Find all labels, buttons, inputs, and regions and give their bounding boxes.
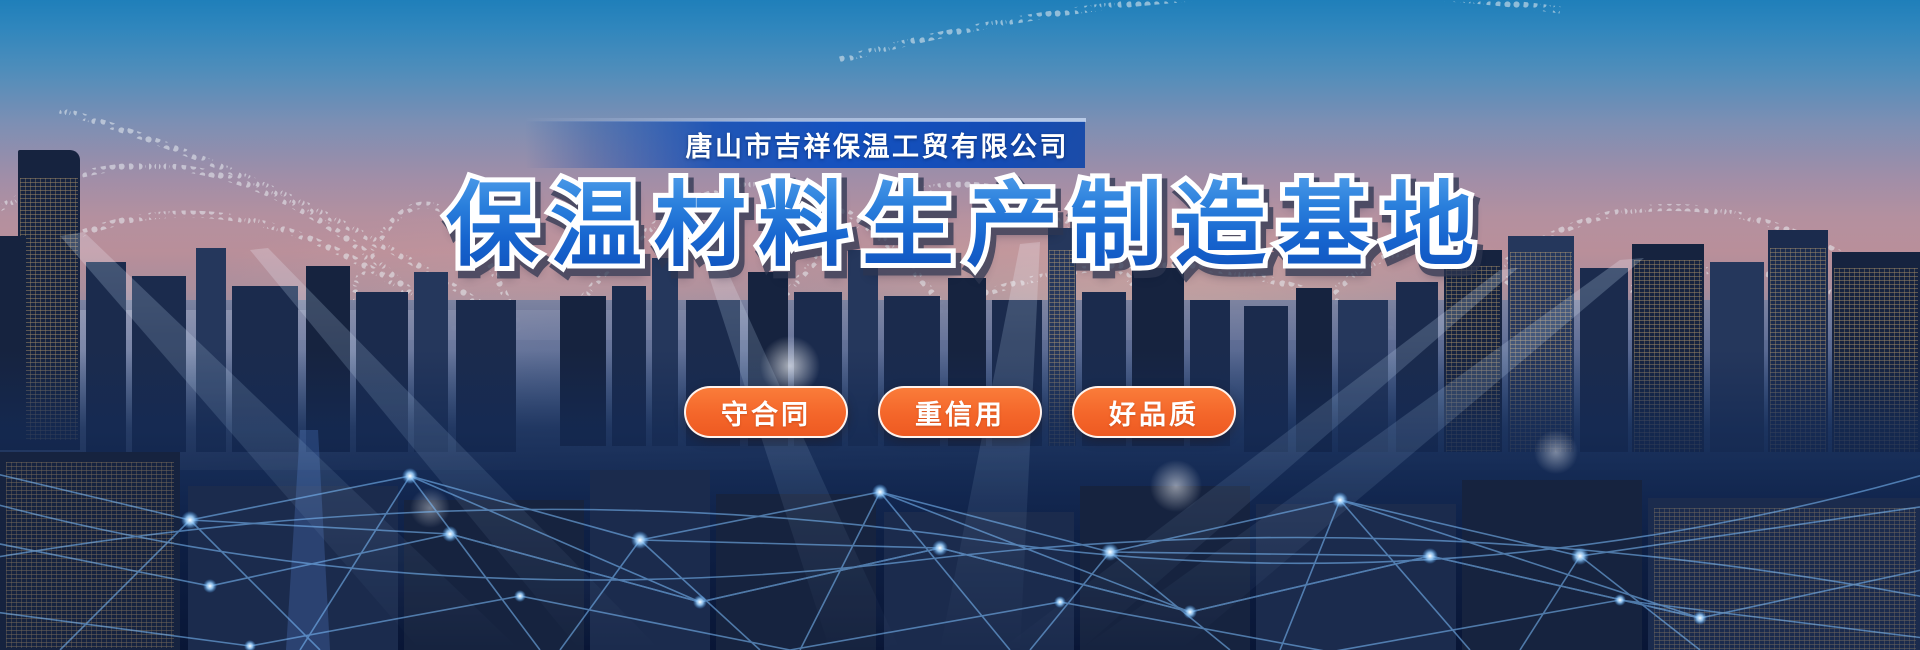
badge-zhong-xin-yong[interactable]: 重信用 [878, 386, 1042, 438]
company-name: 唐山市吉祥保温工贸有限公司 [525, 121, 1085, 168]
badge-shou-he-tong[interactable]: 守合同 [684, 386, 848, 438]
network-mesh-overlay [0, 0, 1920, 650]
hero-banner: 唐山市吉祥保温工贸有限公司 保温材料生产制造基地 保温材料生产制造基地 保温材料… [0, 0, 1920, 650]
headline-fill-layer: 保温材料生产制造基地 [446, 175, 1486, 277]
headline: 保温材料生产制造基地 保温材料生产制造基地 保温材料生产制造基地 [434, 178, 1486, 275]
badge-hao-pin-zhi[interactable]: 好品质 [1072, 386, 1236, 438]
headline-container: 保温材料生产制造基地 保温材料生产制造基地 保温材料生产制造基地 [0, 178, 1920, 275]
badge-list: 守合同 重信用 好品质 [0, 386, 1920, 438]
